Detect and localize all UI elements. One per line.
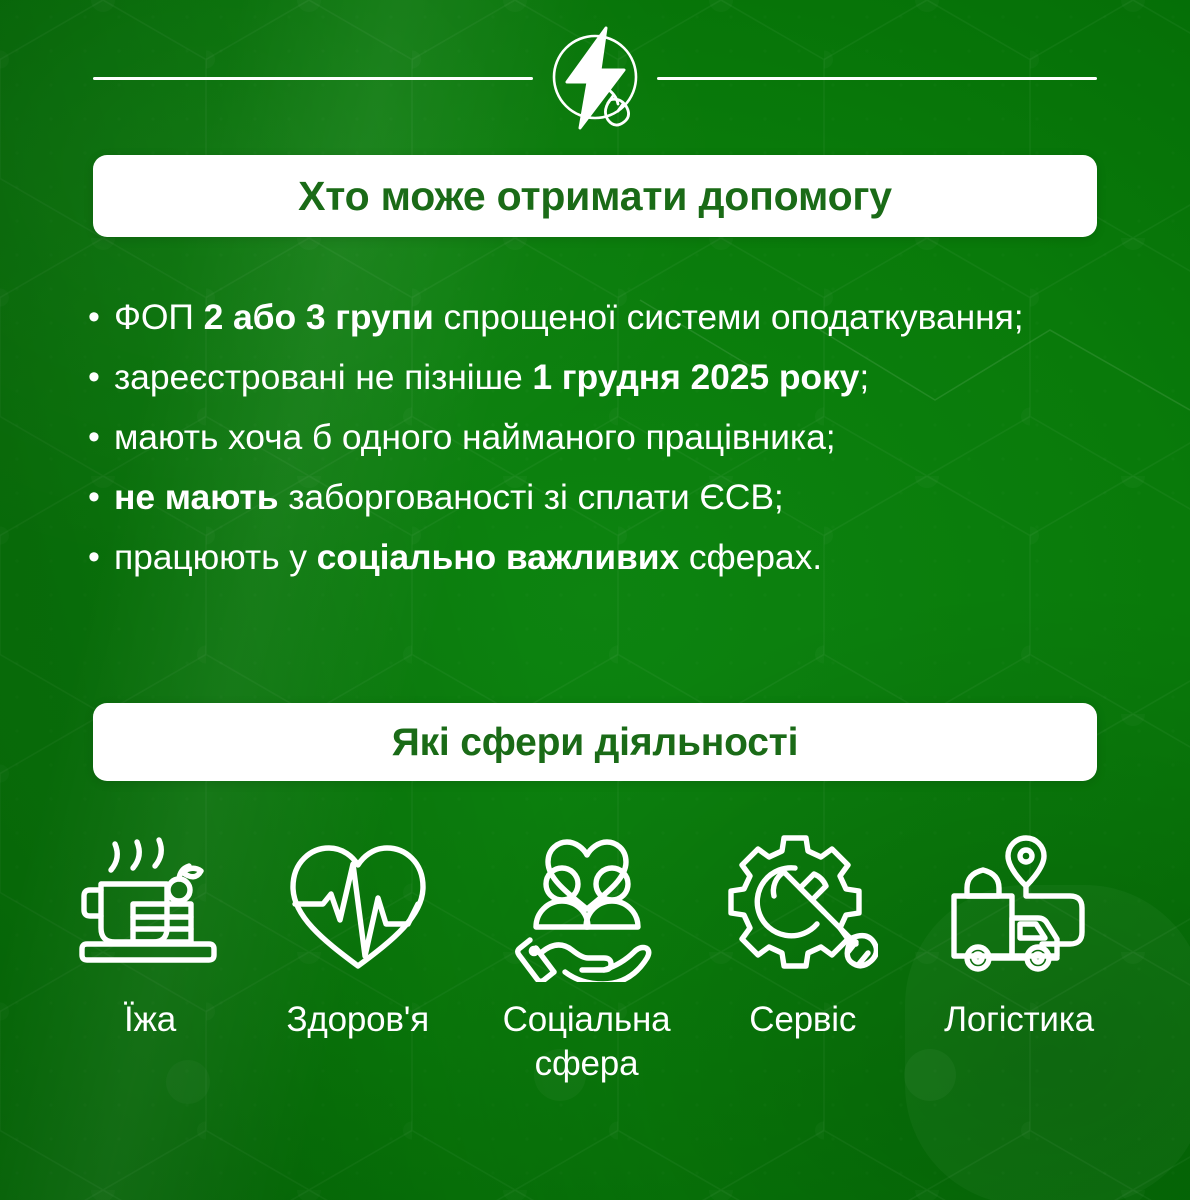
heart-pulse-icon [283, 832, 433, 982]
bullet-icon: • [88, 528, 114, 586]
header-rule-left [93, 77, 533, 80]
banner-who-title: Хто може отримати допомогу [298, 176, 892, 217]
gear-wrench-icon [728, 832, 878, 982]
sector-social: Соціальна сфера [476, 826, 698, 1086]
bullet-icon: • [88, 468, 114, 526]
banner-who-can-receive: Хто може отримати допомогу [93, 155, 1097, 237]
eligibility-item-fop-group: ФОП 2 або 3 групи спрощеної системи опод… [114, 288, 1023, 346]
sector-label: Логістика [944, 998, 1094, 1042]
sector-label: Соціальна сфера [476, 998, 698, 1086]
eligibility-item-social-sectors: працюють у соціально важливих сферах. [114, 528, 822, 586]
sector-service: Сервіс [713, 826, 893, 1042]
eligibility-item-has-employee: мають хоча б одного найманого працівника… [114, 408, 836, 466]
banner-which-areas: Які сфери діяльності [93, 703, 1097, 781]
sector-icon-wrap [942, 826, 1097, 988]
eligibility-item-registered-by: зареєстровані не пізніше 1 грудня 2025 р… [114, 348, 869, 406]
bullet-icon: • [88, 408, 114, 466]
list-item: • зареєстровані не пізніше 1 грудня 2025… [88, 348, 1138, 406]
list-item: • працюють у соціально важливих сферах. [88, 528, 1138, 586]
list-item: • мають хоча б одного найманого працівни… [88, 408, 1138, 466]
list-item: • ФОП 2 або 3 групи спрощеної системи оп… [88, 288, 1138, 346]
eligibility-list: • ФОП 2 або 3 групи спрощеної системи оп… [88, 288, 1138, 588]
sector-label: Їжа [124, 998, 176, 1042]
list-item: • не мають заборгованості зі сплати ЄСВ; [88, 468, 1138, 526]
sector-icon-wrap [283, 826, 433, 988]
eligibility-item-no-esv-debt: не мають заборгованості зі сплати ЄСВ; [114, 468, 784, 526]
sector-list: Їжа Здоров'я [60, 826, 1130, 1086]
sector-icon-wrap [728, 826, 878, 988]
sector-food: Їжа [60, 826, 240, 1042]
bullet-icon: • [88, 288, 114, 346]
header [0, 0, 1190, 150]
sector-health: Здоров'я [255, 826, 460, 1042]
sector-logistics: Логістика [908, 826, 1130, 1042]
sector-icon-wrap [75, 826, 225, 988]
lightning-bolt-plug-icon [536, 20, 654, 135]
sector-label: Здоров'я [286, 998, 429, 1042]
sector-icon-wrap [512, 826, 662, 988]
banner-areas-title: Які сфери діяльності [392, 723, 798, 762]
delivery-truck-pin-icon [942, 830, 1097, 985]
header-rule-right [657, 77, 1097, 80]
bullet-icon: • [88, 348, 114, 406]
coffee-cake-icon [75, 832, 225, 982]
people-heart-hand-icon [512, 832, 662, 982]
sector-label: Сервіс [749, 998, 856, 1042]
